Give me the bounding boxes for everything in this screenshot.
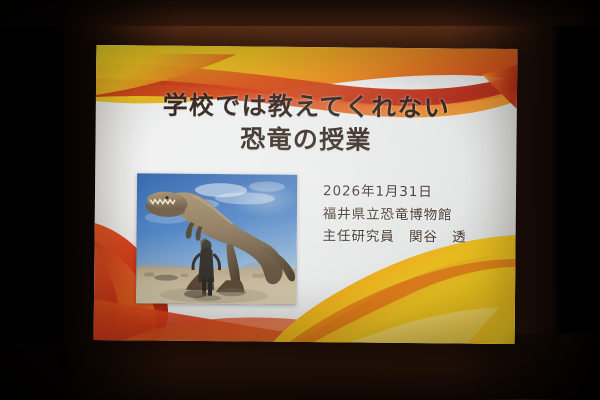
slide-title-line-2: 恐竜の授業 [95, 121, 516, 158]
dinosaur-photo [136, 173, 297, 305]
slide-meta-block: 2026年1月31日 福井県立恐竜博物館 主任研究員 関谷 透 [322, 180, 467, 249]
projected-slide-photo: 学校では教えてくれない 恐竜の授業 2026年1月31日 福井県立恐竜博物館 主… [0, 0, 600, 400]
slide-date: 2026年1月31日 [323, 180, 467, 204]
slide-title-line-1: 学校では教えてくれない [163, 91, 451, 123]
presentation-slide: 学校では教えてくれない 恐竜の授業 2026年1月31日 福井県立恐竜博物館 主… [94, 45, 518, 344]
slide-title: 学校では教えてくれない 恐竜の授業 [95, 89, 517, 158]
slide-organization: 福井県立恐竜博物館 [323, 203, 467, 227]
projection-screen: 学校では教えてくれない 恐竜の授業 2026年1月31日 福井県立恐竜博物館 主… [94, 45, 518, 344]
slide-presenter: 主任研究員 関谷 透 [322, 226, 466, 250]
